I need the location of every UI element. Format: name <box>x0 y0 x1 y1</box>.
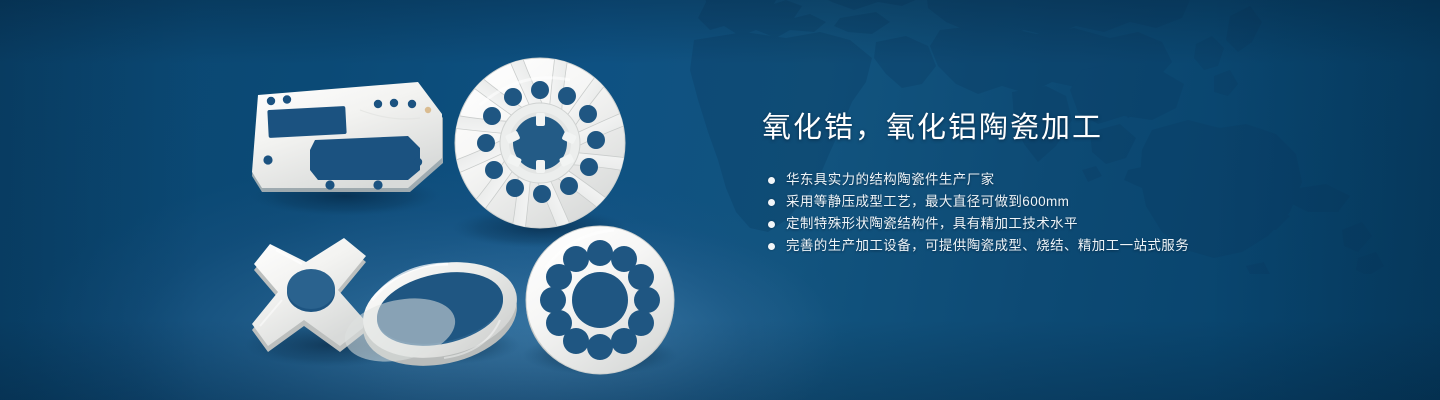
feature-item-3: 定制特殊形状陶瓷结构件，具有精加工技术水平 <box>762 213 1362 235</box>
feature-text: 华东具实力的结构陶瓷件生产厂家 <box>786 169 995 191</box>
feature-text: 完善的生产加工设备，可提供陶瓷成型、烧结、精加工一站式服务 <box>786 235 1189 257</box>
ceramic-products-image <box>0 0 760 400</box>
feature-text: 定制特殊形状陶瓷结构件，具有精加工技术水平 <box>786 213 1078 235</box>
bullet-dot-icon <box>768 177 775 184</box>
bullet-dot-icon <box>768 221 775 228</box>
bullet-dot-icon <box>768 243 775 250</box>
banner-copy: 氧化锆，氧化铝陶瓷加工 华东具实力的结构陶瓷件生产厂家 采用等静压成型工艺，最大… <box>762 108 1362 257</box>
ceramic-impeller-part <box>444 47 635 238</box>
feature-item-2: 采用等静压成型工艺，最大直径可做到600mm <box>762 191 1362 213</box>
ceramic-valve-plate-part <box>526 226 674 374</box>
feature-item-1: 华东具实力的结构陶瓷件生产厂家 <box>762 169 1362 191</box>
feature-list: 华东具实力的结构陶瓷件生产厂家 采用等静压成型工艺，最大直径可做到600mm 定… <box>762 169 1362 257</box>
feature-text: 采用等静压成型工艺，最大直径可做到600mm <box>786 191 1069 213</box>
banner-headline: 氧化锆，氧化铝陶瓷加工 <box>762 108 1362 148</box>
ceramic-plate-part <box>252 82 443 192</box>
feature-item-4: 完善的生产加工设备，可提供陶瓷成型、烧结、精加工一站式服务 <box>762 235 1362 257</box>
promo-banner: 氧化锆，氧化铝陶瓷加工 华东具实力的结构陶瓷件生产厂家 采用等静压成型工艺，最大… <box>0 0 1440 400</box>
bullet-dot-icon <box>768 199 775 206</box>
